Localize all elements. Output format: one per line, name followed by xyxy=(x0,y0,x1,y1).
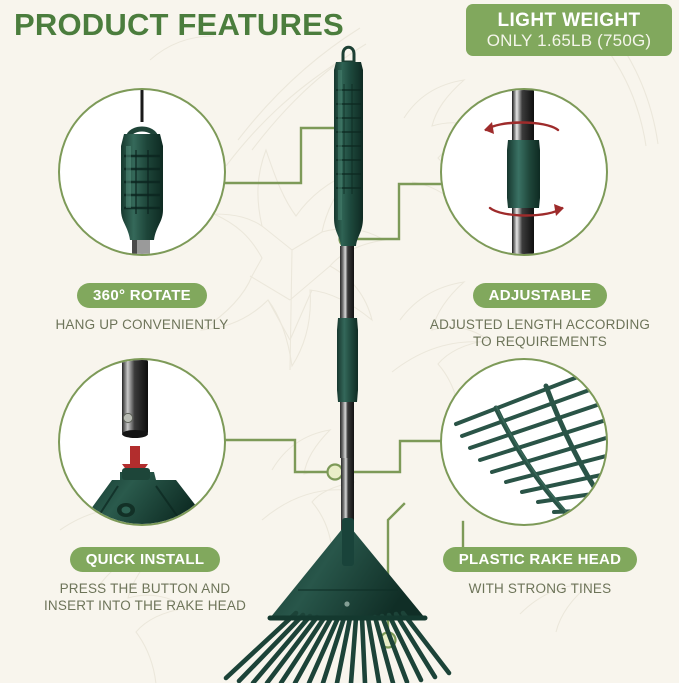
feature-circle-rotate xyxy=(58,88,226,256)
infographic-canvas: 360° ROTATE HANG UP CONVENIENTLY ADJUSTA… xyxy=(0,0,679,683)
pill-label-adjustable: ADJUSTABLE xyxy=(473,283,608,308)
label-group-rotate: 360° ROTATE HANG UP CONVENIENTLY xyxy=(27,283,257,333)
label-group-quick-install: QUICK INSTALL PRESS THE BUTTON AND INSER… xyxy=(27,547,263,614)
light-weight-badge: LIGHT WEIGHT ONLY 1.65LB (750G) xyxy=(466,4,672,56)
caption-rake-head: WITH STRONG TINES xyxy=(469,580,612,597)
pill-label-rake-head: PLASTIC RAKE HEAD xyxy=(443,547,638,572)
weight-badge-subline: ONLY 1.65LB (750G) xyxy=(487,31,652,51)
feature-circle-adjustable xyxy=(440,88,608,256)
pill-label-quick-install: QUICK INSTALL xyxy=(70,547,221,572)
feature-circle-rake-head xyxy=(440,358,608,526)
page-title: PRODUCT FEATURES xyxy=(14,6,344,44)
push-button-insert-icon xyxy=(60,360,224,524)
label-group-rake-head: PLASTIC RAKE HEAD WITH STRONG TINES xyxy=(420,547,660,597)
feature-circle-quick-install xyxy=(58,358,226,526)
caption-rotate: HANG UP CONVENIENTLY xyxy=(55,316,228,333)
weight-badge-headline: LIGHT WEIGHT xyxy=(497,10,640,31)
hanging-handle-icon xyxy=(60,90,224,254)
caption-adjustable: ADJUSTED LENGTH ACCORDING TO REQUIREMENT… xyxy=(430,316,650,350)
telescoping-collar-icon xyxy=(442,90,606,254)
label-group-adjustable: ADJUSTABLE ADJUSTED LENGTH ACCORDING TO … xyxy=(420,283,660,350)
pill-label-rotate: 360° ROTATE xyxy=(77,283,207,308)
caption-quick-install: PRESS THE BUTTON AND INSERT INTO THE RAK… xyxy=(44,580,246,614)
rake-tines-icon xyxy=(442,360,606,524)
